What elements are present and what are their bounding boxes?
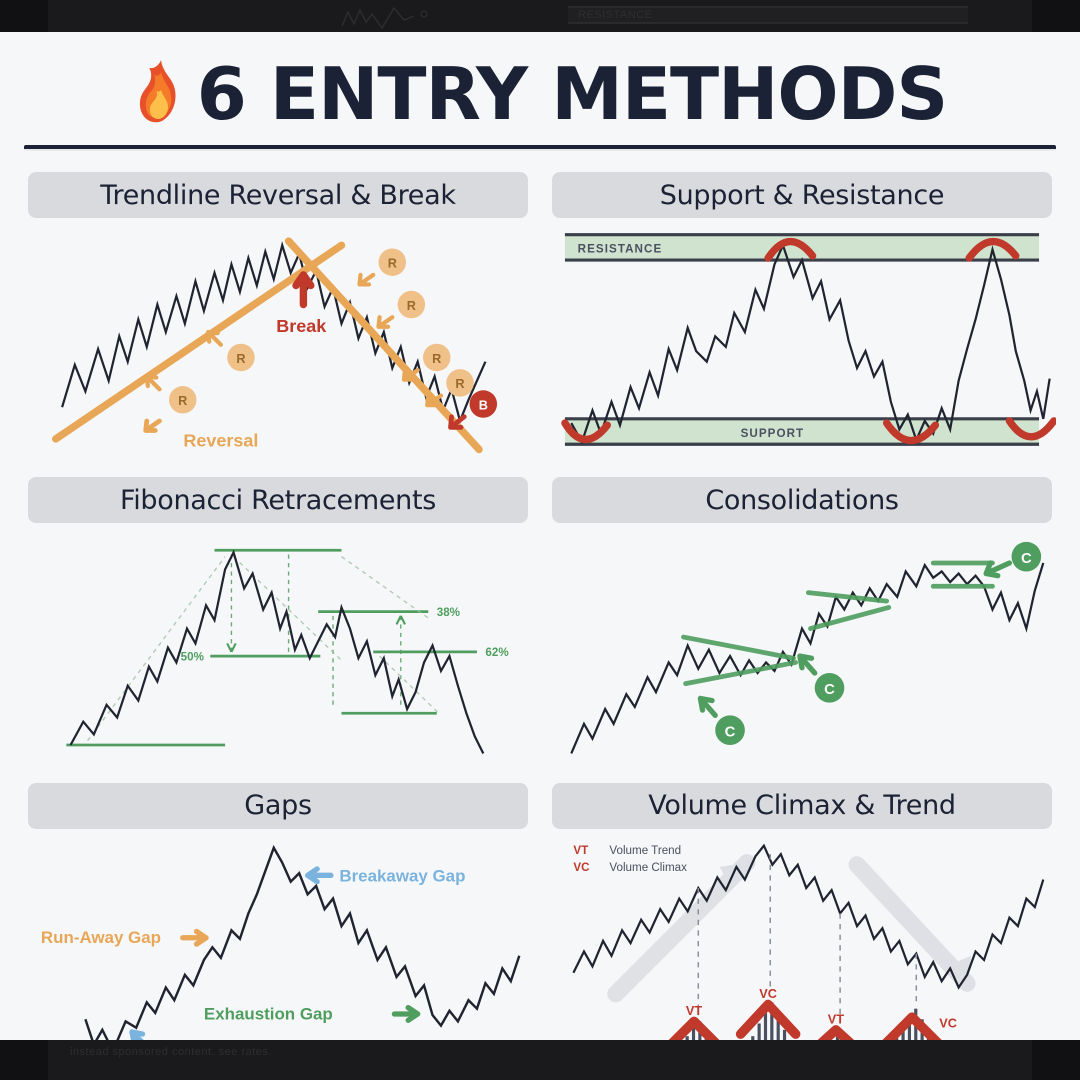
price-line-support-resistance (571, 245, 1049, 442)
break-label: Break (276, 316, 327, 336)
bottom-letterbox: instead sponsored content. see rates. (0, 1040, 1080, 1080)
panel-title-volume: Volume Climax & Trend (648, 790, 956, 821)
marker-r-4-label: R (407, 299, 416, 313)
infographic-page: RESISTANCE 6 ENTRY METHODS Trendline Rev (0, 0, 1080, 1080)
trendline-reversal (56, 245, 342, 439)
panel-volume-climax-trend[interactable]: Volume Climax & Trend VT Volume Trend VC… (548, 771, 1056, 1076)
legend-code-vt: VT (573, 844, 588, 857)
panel-title-support-resistance: Support & Resistance (660, 180, 944, 211)
callout-exhaustion-gap: Exhaustion Gap (204, 1004, 418, 1023)
fib-level-50-label: 50% (181, 651, 205, 664)
fib-level-62-label: 62% (485, 647, 509, 660)
panel-header-consolidations: Consolidations (552, 477, 1052, 523)
marker-r-5-label: R (432, 352, 441, 366)
marker-c-1: C (700, 699, 744, 746)
fire-icon (133, 58, 187, 130)
support-label: SUPPORT (741, 427, 805, 440)
page-title-text: 6 ENTRY METHODS (197, 58, 947, 130)
panel-fibonacci-retracements[interactable]: Fibonacci Retracements 50% 38% (24, 465, 532, 770)
infographic-canvas: 6 ENTRY METHODS Trendline Reversal & Bre… (0, 32, 1080, 1040)
marker-r-1: R (147, 377, 197, 414)
marker-c-2-label: C (824, 683, 835, 699)
title-divider (24, 145, 1056, 151)
run-away-gap-label: Run-Away Gap (41, 928, 161, 947)
marker-r-2: R (208, 332, 255, 371)
top-letterbox: RESISTANCE (0, 0, 1080, 32)
volume-marker-4-label: VC (939, 1017, 957, 1031)
fib-level-38-label: 38% (437, 606, 461, 619)
panel-support-resistance[interactable]: Support & Resistance RESISTANCE (548, 160, 1056, 465)
marker-c-3: C (986, 542, 1041, 576)
consolidation-pattern-2 (808, 593, 888, 629)
consolidation-pattern-3 (933, 563, 992, 586)
panel-header-support-resistance: Support & Resistance (552, 172, 1052, 218)
figure-trendline: R R R (24, 222, 532, 465)
volume-marker-2: VC (741, 987, 796, 1034)
marker-c-3-label: C (1021, 551, 1032, 567)
panel-header-fibonacci: Fibonacci Retracements (28, 477, 528, 523)
marker-r-1-label: R (178, 394, 187, 408)
marker-c-1-label: C (725, 725, 736, 741)
reversal-label: Reversal (183, 430, 258, 450)
exhaustion-gap-label: Exhaustion Gap (204, 1004, 333, 1023)
ghost-resistance-label: RESISTANCE (578, 9, 652, 21)
top-letterbox-inner: RESISTANCE (48, 0, 1032, 32)
figure-consolidations: C C C (548, 527, 1056, 770)
fib-measure-2 (333, 616, 401, 709)
legend-code-vc: VC (573, 861, 590, 874)
volume-marker-2-label: VC (759, 987, 777, 1001)
panel-consolidations[interactable]: Consolidations (548, 465, 1056, 770)
marker-r-5: R (404, 344, 451, 380)
resistance-label: RESISTANCE (578, 243, 663, 256)
reversal-callout: Reversal (146, 421, 259, 450)
breakaway-gap-top-label: Breakaway Gap (339, 866, 465, 885)
panel-title-consolidations: Consolidations (705, 485, 898, 516)
figure-support-resistance: RESISTANCE SUPPORT (548, 222, 1056, 465)
page-title: 6 ENTRY METHODS (0, 48, 1080, 140)
marker-r-2-label: R (236, 352, 245, 366)
panel-title-fibonacci: Fibonacci Retracements (120, 485, 436, 516)
panel-gaps[interactable]: Gaps Breakaway Gap Run-Away Gap (24, 771, 532, 1076)
marker-c-2: C (800, 657, 844, 704)
fib-measure-1 (231, 555, 288, 652)
marker-break-label: B (479, 398, 488, 412)
methods-grid: Trendline Reversal & Break R (0, 160, 1080, 1040)
bottom-letterbox-inner: instead sponsored content. see rates. (48, 1040, 1032, 1080)
panel-header-gaps: Gaps (28, 783, 528, 829)
marker-r-6: R (427, 369, 474, 405)
panel-trendline-reversal-break[interactable]: Trendline Reversal & Break R (24, 160, 532, 465)
volume-legend: VT Volume Trend VC Volume Climax (573, 844, 687, 874)
panel-title-trendline: Trendline Reversal & Break (100, 180, 455, 211)
ghost-chart-icon (338, 4, 458, 30)
volume-marker-1-label: VT (686, 1004, 702, 1018)
marker-r-6-label: R (455, 377, 464, 391)
support-band: SUPPORT (565, 419, 1039, 444)
marker-r-3-label: R (388, 257, 397, 271)
legend-label-vc: Volume Climax (609, 861, 687, 874)
trend-arrow-down (857, 865, 971, 984)
legend-label-vt: Volume Trend (609, 844, 681, 857)
panel-header-volume: Volume Climax & Trend (552, 783, 1052, 829)
marker-r-3: R (359, 248, 406, 284)
volume-marker-3-label: VT (828, 1012, 844, 1026)
marker-r-4: R (379, 291, 426, 327)
callout-run-away-gap: Run-Away Gap (41, 928, 206, 947)
panel-title-gaps: Gaps (244, 790, 311, 821)
callout-breakaway-gap-top: Breakaway Gap (308, 866, 466, 885)
ghost-bottom-label: instead sponsored content. see rates. (70, 1046, 272, 1058)
panel-header-trendline: Trendline Reversal & Break (28, 172, 528, 218)
trend-arrow-up (616, 862, 747, 993)
figure-fibonacci: 50% 38% 62% (24, 527, 532, 770)
